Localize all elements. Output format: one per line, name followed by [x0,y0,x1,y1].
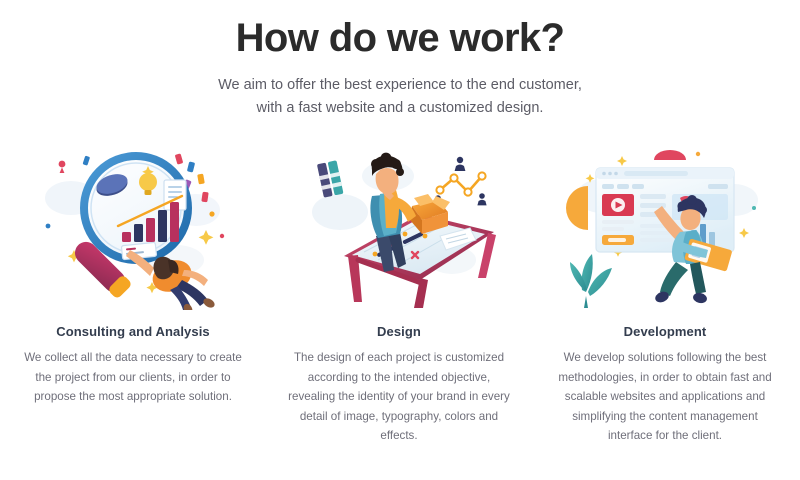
column-title-consulting: Consulting and Analysis [56,324,210,339]
section-header: How do we work? We aim to offer the best… [0,0,800,120]
magnifying-glass-data-analysis-icon [26,140,241,310]
subtitle-line-2: with a fast website and a customized des… [257,100,544,116]
web-developer-browser-icon [558,140,773,310]
feature-column-consulting: Consulting and Analysis We collect all t… [0,140,266,407]
subtitle-line-1: We aim to offer the best experience to t… [218,77,582,93]
page-title: How do we work? [0,14,800,62]
how-we-work-section: How do we work? We aim to offer the best… [0,0,800,480]
column-body-development: We develop solutions following the best … [552,348,778,446]
column-title-development: Development [624,324,707,339]
column-title-design: Design [377,324,421,339]
designer-drafting-table-icon [292,140,507,310]
feature-columns: Consulting and Analysis We collect all t… [0,140,800,446]
feature-column-development: Development We develop solutions followi… [532,140,798,446]
feature-column-design: Design The design of each project is cus… [266,140,532,446]
column-body-design: The design of each project is customized… [286,348,512,446]
column-body-consulting: We collect all the data necessary to cre… [20,348,246,407]
section-subtitle: We aim to offer the best experience to t… [165,74,635,120]
